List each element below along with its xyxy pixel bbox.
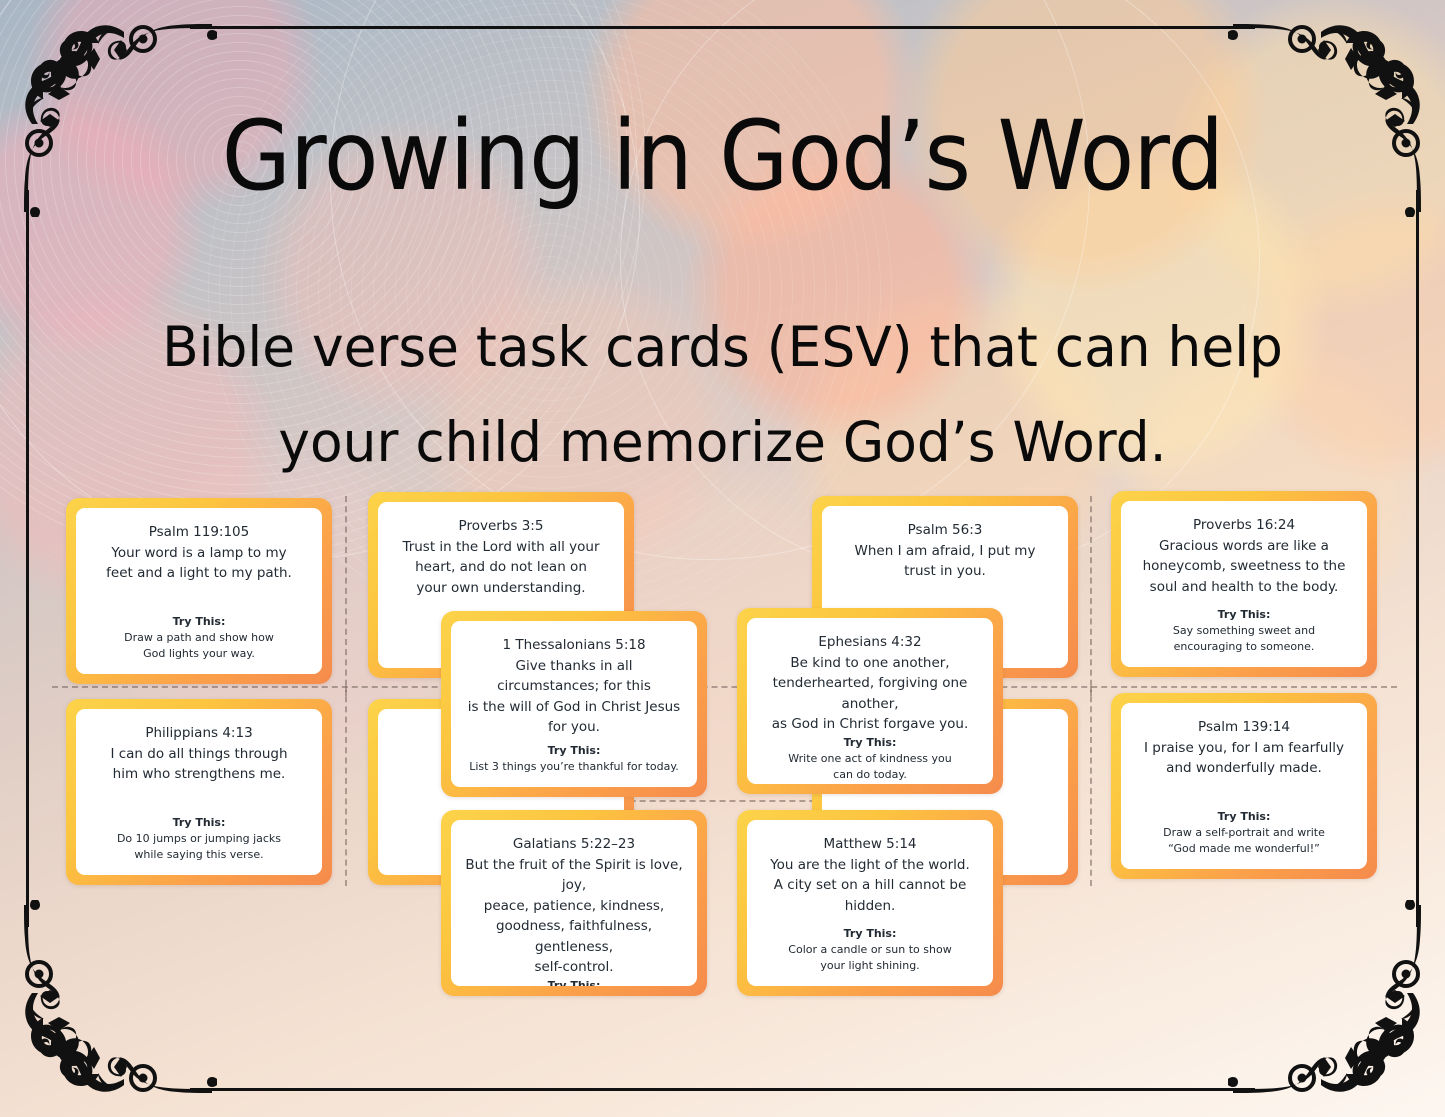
task-card[interactable]: Matthew 5:14 You are the light of the wo… <box>737 810 1003 996</box>
task-card[interactable]: Psalm 139:14 I praise you, for I am fear… <box>1111 693 1377 879</box>
task-card-inner: Proverbs 16:24 Gracious words are like a… <box>1121 501 1367 667</box>
verse-text: You are the light of the world. A city s… <box>761 855 979 917</box>
verse-text: Be kind to one another, tenderhearted, f… <box>761 653 979 735</box>
task-card-inner: Galatians 5:22–23 But the fruit of the S… <box>451 820 697 986</box>
try-this-block: Try This: Draw a fruit basket showing th… <box>497 978 651 986</box>
try-this-text: Do 10 jumps or jumping jacks while sayin… <box>117 831 281 863</box>
try-this-label: Try This: <box>1163 809 1325 826</box>
page-subtitle: Bible verse task cards (ESV) that can he… <box>128 300 1316 489</box>
cut-guide-vertical <box>345 686 347 886</box>
task-card-inner: Ephesians 4:32 Be kind to one another, t… <box>747 618 993 784</box>
task-card-inner: 1 Thessalonians 5:18 Give thanks in all … <box>451 621 697 787</box>
frame-line-bottom <box>190 1088 1255 1091</box>
verse-reference: Galatians 5:22–23 <box>513 834 635 855</box>
try-this-text: List 3 things you’re thankful for today. <box>469 759 679 775</box>
try-this-block: Try This: Draw a path and show how God l… <box>124 614 274 662</box>
try-this-label: Try This: <box>788 735 952 752</box>
task-card[interactable]: Ephesians 4:32 Be kind to one another, t… <box>737 608 1003 794</box>
poster-canvas: Growing in God’s Word Bible verse task c… <box>0 0 1445 1117</box>
verse-reference: Proverbs 16:24 <box>1193 515 1295 536</box>
page-title-wrap: Growing in God’s Word <box>0 104 1445 210</box>
try-this-label: Try This: <box>788 926 951 943</box>
verse-reference: Matthew 5:14 <box>823 834 916 855</box>
try-this-label: Try This: <box>117 815 281 832</box>
try-this-label: Try This: <box>1173 607 1315 624</box>
verse-text: Your word is a lamp to my feet and a lig… <box>106 543 292 584</box>
task-card[interactable]: Psalm 119:105 Your word is a lamp to my … <box>66 498 332 684</box>
cut-guide-horizontal <box>52 686 1397 688</box>
verse-text: Give thanks in all circumstances; for th… <box>465 656 683 738</box>
verse-text: I praise you, for I am fearfully and won… <box>1144 738 1344 779</box>
cut-guide-vertical <box>1090 496 1092 696</box>
try-this-block: Try This: Do 10 jumps or jumping jacks w… <box>117 815 281 863</box>
try-this-block: Try This: Draw a self-portrait and write… <box>1163 809 1325 857</box>
verse-reference: Philippians 4:13 <box>145 723 252 744</box>
task-card[interactable]: Philippians 4:13 I can do all things thr… <box>66 699 332 885</box>
task-card[interactable]: Galatians 5:22–23 But the fruit of the S… <box>441 810 707 996</box>
try-this-text: Write one act of kindness you can do tod… <box>788 751 952 783</box>
try-this-label: Try This: <box>469 743 679 760</box>
cut-guide-vertical <box>345 496 347 696</box>
verse-text: Gracious words are like a honeycomb, swe… <box>1143 536 1346 598</box>
verse-text: When I am afraid, I put my trust in you. <box>855 541 1036 582</box>
frame-line-top <box>190 26 1255 29</box>
page-title: Growing in God’s Word <box>51 104 1395 210</box>
try-this-block: Try This: Color a candle or sun to show … <box>788 926 951 974</box>
verse-reference: Psalm 139:14 <box>1198 717 1290 738</box>
verse-reference: 1 Thessalonians 5:18 <box>502 635 645 656</box>
task-card-preview-grid: Psalm 119:105 Your word is a lamp to my … <box>0 486 1445 1006</box>
try-this-block: Try This: List 3 things you’re thankful … <box>469 743 679 775</box>
verse-text: I can do all things through him who stre… <box>110 744 287 785</box>
try-this-text: Draw a path and show how God lights your… <box>124 630 274 662</box>
try-this-block: Try This: Write one act of kindness you … <box>788 735 952 783</box>
task-card-inner: Psalm 139:14 I praise you, for I am fear… <box>1121 703 1367 869</box>
try-this-text: Draw a self-portrait and write “God made… <box>1163 825 1325 857</box>
verse-reference: Psalm 56:3 <box>908 520 983 541</box>
verse-text: Trust in the Lord with all your heart, a… <box>402 537 599 599</box>
try-this-block: Try This: Say something sweet and encour… <box>1173 607 1315 655</box>
task-card-inner: Matthew 5:14 You are the light of the wo… <box>747 820 993 986</box>
verse-reference: Proverbs 3:5 <box>459 516 544 537</box>
task-card-inner: Philippians 4:13 I can do all things thr… <box>76 709 322 875</box>
verse-reference: Ephesians 4:32 <box>818 632 921 653</box>
verse-reference: Psalm 119:105 <box>149 522 250 543</box>
verse-text: But the fruit of the Spirit is love, joy… <box>465 855 683 978</box>
try-this-label: Try This: <box>497 978 651 986</box>
task-card[interactable]: 1 Thessalonians 5:18 Give thanks in all … <box>441 611 707 797</box>
task-card-inner: Psalm 119:105 Your word is a lamp to my … <box>76 508 322 674</box>
try-this-label: Try This: <box>124 614 274 631</box>
cut-guide-vertical <box>1090 686 1092 886</box>
try-this-text: Say something sweet and encouraging to s… <box>1173 623 1315 655</box>
task-card[interactable]: Proverbs 16:24 Gracious words are like a… <box>1111 491 1377 677</box>
try-this-text: Color a candle or sun to show your light… <box>788 942 951 974</box>
